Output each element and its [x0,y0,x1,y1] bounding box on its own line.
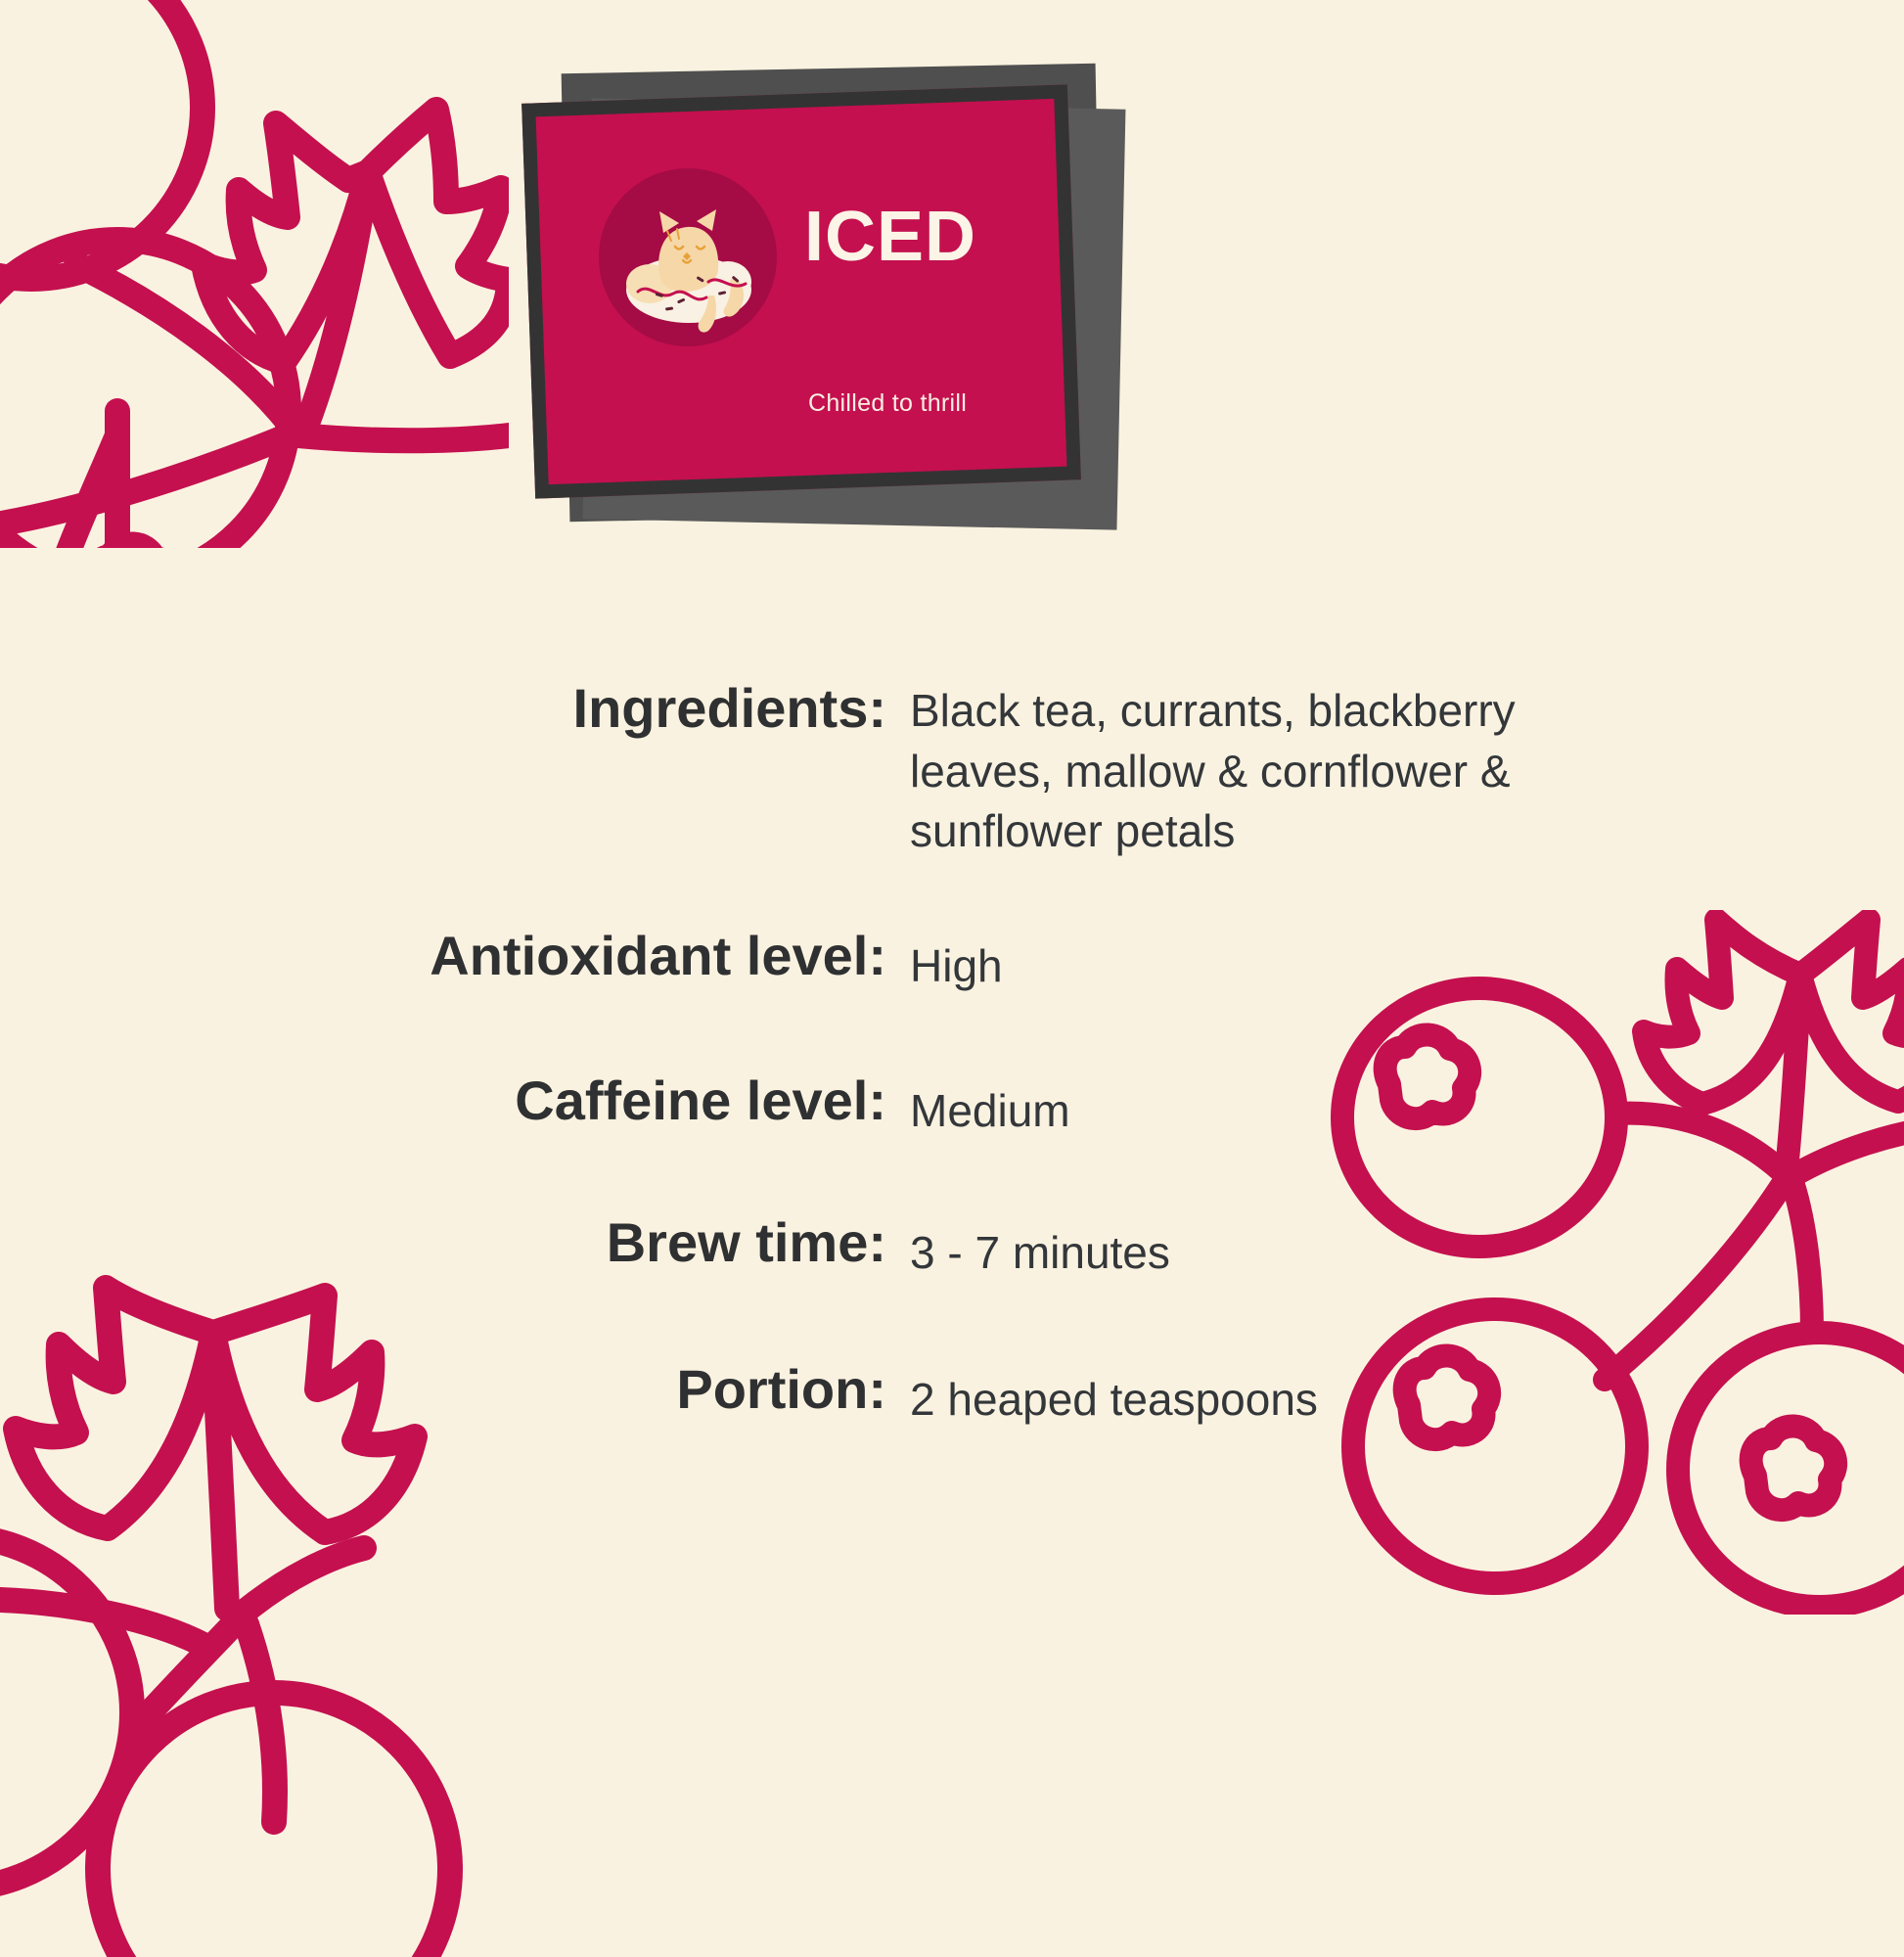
spec-label-brew-time: Brew time: [0,1213,910,1272]
currant-branch-top-left [0,0,509,548]
spec-row-antioxidant-level: Antioxidant level: High [0,927,1904,997]
spec-row-portion: Portion: 2 heaped teaspoons [0,1360,1904,1431]
brand-logo-badge [599,168,777,346]
hero-card-stack: ICED Chilled to thrill [528,59,1135,548]
spec-label-antioxidant-level: Antioxidant level: [0,927,910,985]
spec-label-caffeine-level: Caffeine level: [0,1071,910,1130]
spec-row-ingredients: Ingredients: Black tea, currants, blackb… [0,675,1904,862]
spec-row-caffeine-level: Caffeine level: Medium [0,1071,1904,1142]
spec-value-brew-time: 3 - 7 minutes [910,1213,1654,1284]
spec-value-caffeine-level: Medium [910,1071,1654,1142]
cat-on-donut-icon [599,168,777,346]
spec-value-antioxidant-level: High [910,927,1654,997]
spec-value-portion: 2 heaped teaspoons [910,1360,1654,1431]
currant-star-top-left [93,543,176,548]
spec-row-brew-time: Brew time: 3 - 7 minutes [0,1213,1904,1284]
card-title: ICED [804,202,976,272]
spec-value-ingredients: Black tea, currants, blackberry leaves, … [910,675,1556,862]
card-tagline: Chilled to thrill [808,389,967,418]
tea-spec-list: Ingredients: Black tea, currants, blackb… [0,675,1904,1494]
spec-label-ingredients: Ingredients: [0,675,910,738]
spec-label-portion: Portion: [0,1360,910,1419]
hero-card: ICED Chilled to thrill [521,84,1081,498]
